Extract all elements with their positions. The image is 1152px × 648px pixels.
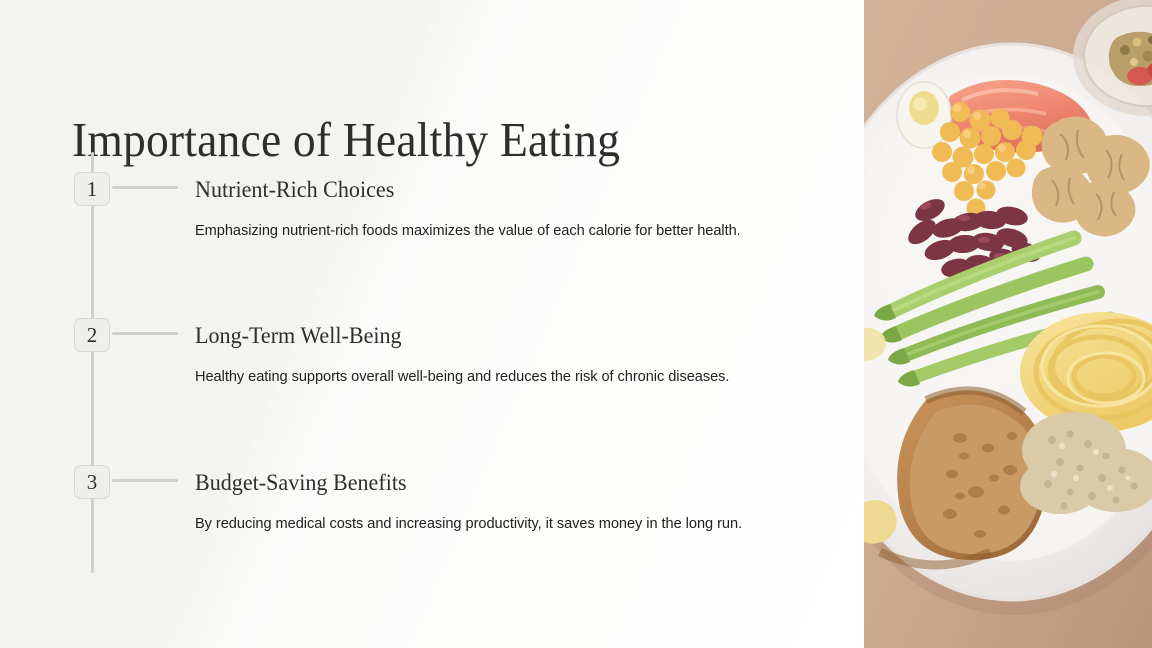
timeline-body-2: Healthy eating supports overall well-bei… [195, 364, 795, 392]
numbered-timeline-list: 1 Nutrient-Rich Choices Emphasizing nutr… [0, 0, 866, 648]
timeline-heading-1: Nutrient-Rich Choices [195, 176, 394, 204]
food-plate-illustration [864, 0, 1152, 648]
timeline-badge-1: 1 [74, 172, 110, 206]
timeline-connector-1 [112, 186, 178, 189]
timeline-heading-2: Long-Term Well-Being [195, 322, 402, 350]
slide-canvas: Importance of Healthy Eating 1 Nutrient-… [0, 0, 1152, 648]
timeline-body-3: By reducing medical costs and increasing… [195, 511, 795, 539]
timeline-connector-3 [112, 479, 178, 482]
healthy-food-photo [864, 0, 1152, 648]
timeline-badge-2: 2 [74, 318, 110, 352]
timeline-vertical-line [91, 152, 94, 573]
timeline-connector-2 [112, 332, 178, 335]
timeline-badge-3: 3 [74, 465, 110, 499]
timeline-body-1: Emphasizing nutrient-rich foods maximize… [195, 218, 795, 246]
timeline-heading-3: Budget-Saving Benefits [195, 469, 407, 497]
